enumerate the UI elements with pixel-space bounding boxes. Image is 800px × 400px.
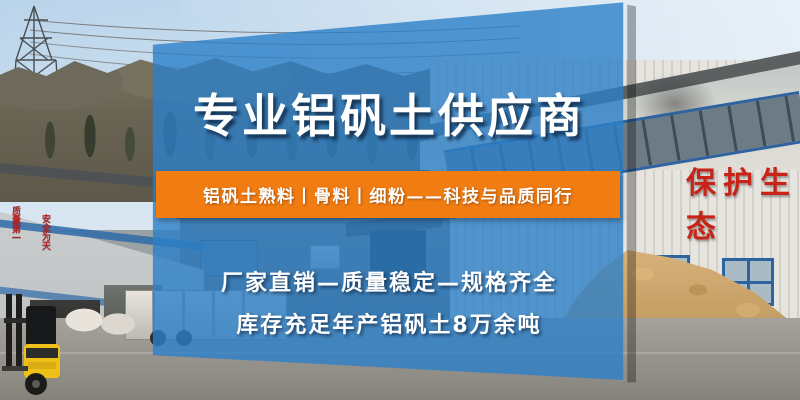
subline-two: 库存充足年产铝矾土8万余吨 (150, 307, 628, 339)
right-building-signage: 保护生态 (686, 158, 800, 246)
tagline-ribbon: 铝矾土熟料丨骨料丨细粉——科技与品质同行 (156, 171, 620, 218)
left-building-signage-2: 安全为天 (40, 214, 50, 250)
subline-one: 厂家直销—质量稳定—规格齐全 (150, 265, 628, 297)
banner-content: 专业铝矾土供应商 铝矾土熟料丨骨料丨细粉——科技与品质同行 厂家直销—质量稳定—… (150, 0, 628, 400)
forklift-icon (2, 288, 62, 400)
promo-banner: 保护生态 质量第一 安全为天 (0, 0, 800, 400)
stacked-sacks (60, 300, 140, 340)
page-title: 专业铝矾土供应商 (150, 80, 628, 146)
left-building-signage-1: 质量第一 (10, 206, 20, 242)
tagline-text: 铝矾土熟料丨骨料丨细粉——科技与品质同行 (203, 182, 573, 207)
